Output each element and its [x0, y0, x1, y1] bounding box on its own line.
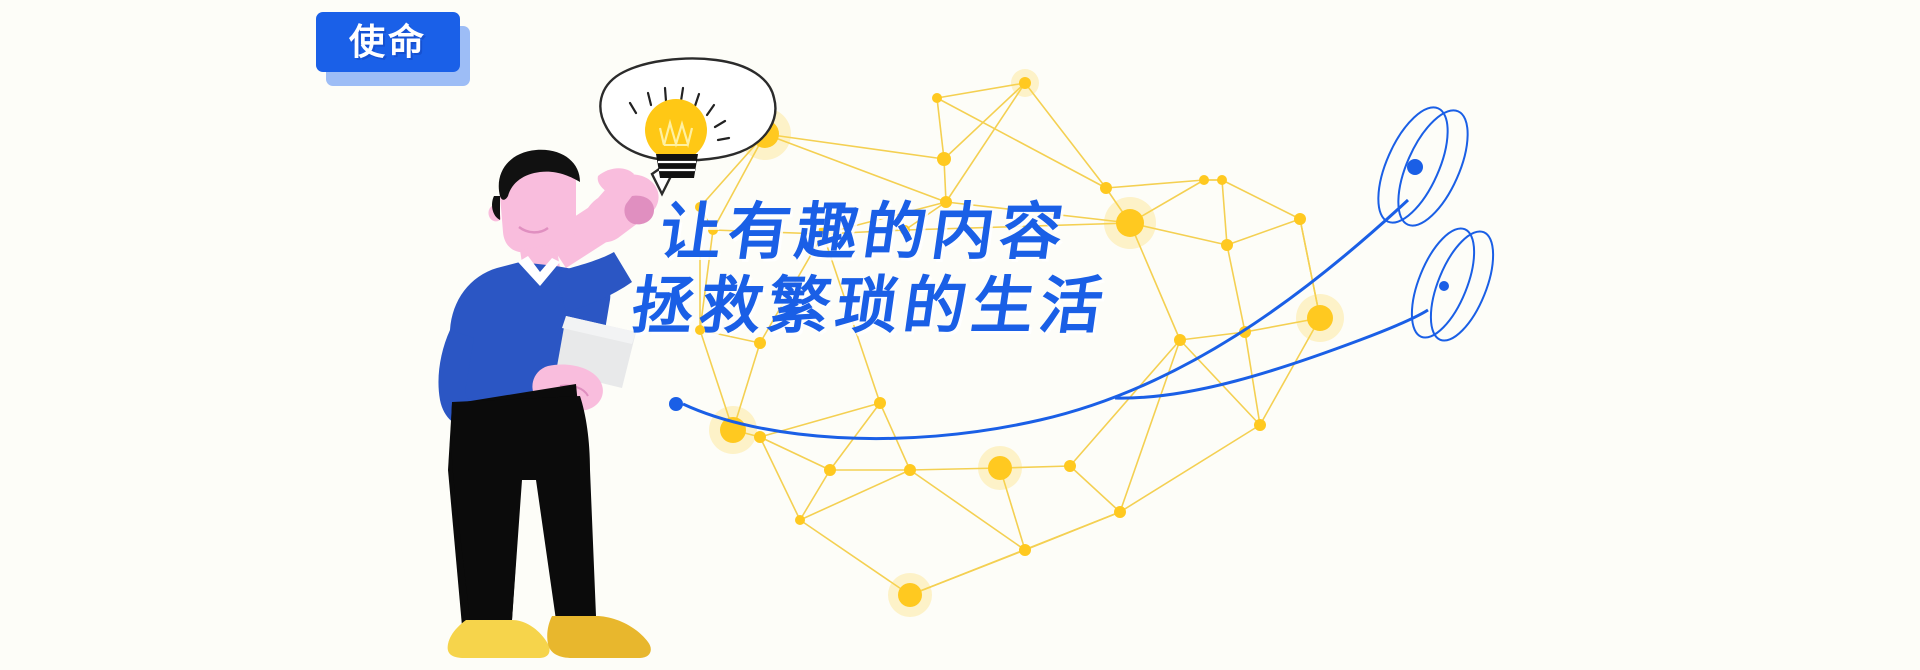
- mission-banner: 使命: [0, 0, 1920, 670]
- speech-bubble-icon: [0, 0, 1920, 670]
